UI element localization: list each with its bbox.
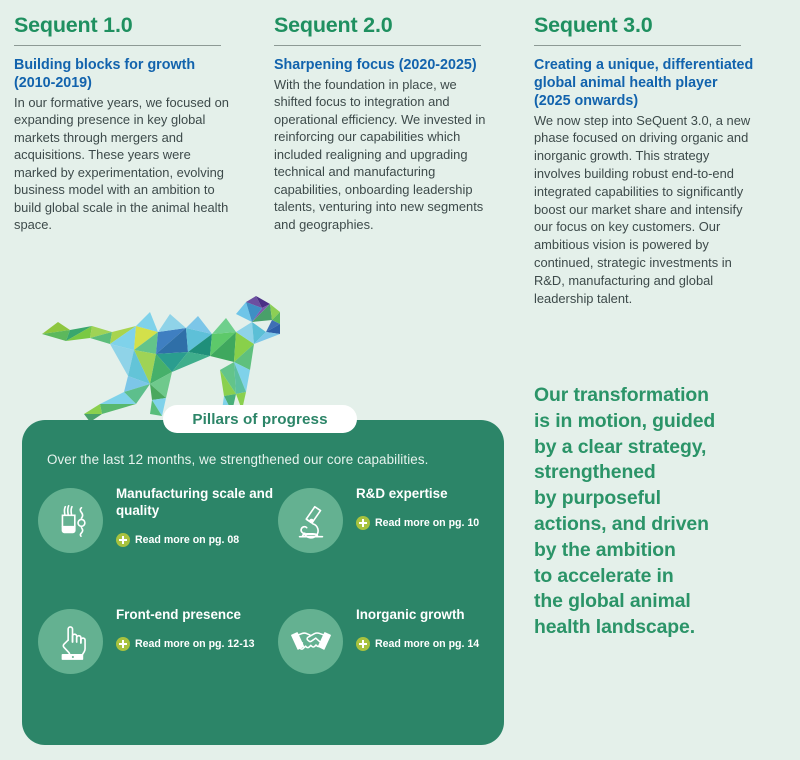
pillar-read-more-label: Read more on pg. 12-13 [135,638,255,650]
plus-icon [356,637,370,651]
pillar-text: Inorganic growth Read more on pg. 14 [356,606,516,651]
column-sequent-1: Sequent 1.0 Building blocks for growth (… [14,14,236,234]
statement-line: Our transformation [534,383,784,409]
pillar-text: Manufacturing scale and quality Read mor… [116,485,276,547]
infographic-page: Sequent 1.0 Building blocks for growth (… [0,0,800,760]
statement-line: by a clear strategy, [534,435,784,461]
plus-icon [356,516,370,530]
statement-line: is in motion, guided [534,409,784,435]
column-divider [534,45,741,46]
statement-line: by the ambition [534,538,784,564]
pillars-card-subtitle: Over the last 12 months, we strengthened… [47,452,428,467]
pillar-read-more-link[interactable]: Read more on pg. 10 [356,516,516,530]
column-body: We now step into SeQuent 3.0, a new phas… [534,112,756,308]
statement-line: to accelerate in [534,564,784,590]
pillar-read-more-label: Read more on pg. 14 [375,638,479,650]
pillar-text: Front-end presence Read more on pg. 12-1… [116,606,276,651]
statement-line: health landscape. [534,615,784,641]
statement-line: by purposeful [534,486,784,512]
pillar-title: R&D expertise [356,485,516,502]
column-body: With the foundation in place, we shifted… [274,76,496,233]
pillar-read-more-label: Read more on pg. 08 [135,534,239,546]
statement-line: the global animal [534,589,784,615]
pillar-item[interactable]: Manufacturing scale and quality Read mor… [38,485,273,585]
pillars-card-title: Pillars of progress [192,411,327,428]
transformation-statement: Our transformation is in motion, guided … [534,383,784,641]
handshake-icon [278,609,343,674]
pillar-read-more-link[interactable]: Read more on pg. 08 [116,533,276,547]
pillar-title: Front-end presence [116,606,276,623]
beaker-flask-icon [38,488,103,553]
pillars-card-title-pill: Pillars of progress [163,405,357,433]
plus-icon [116,533,130,547]
column-title: Sequent 1.0 [14,14,236,38]
pillar-title: Inorganic growth [356,606,516,623]
statement-line: strengthened [534,460,784,486]
pointing-hand-icon [38,609,103,674]
plus-icon [116,637,130,651]
column-sequent-2: Sequent 2.0 Sharpening focus (2020-2025)… [274,14,496,233]
pillar-item[interactable]: Inorganic growth Read more on pg. 14 [278,606,513,706]
microscope-icon [278,488,343,553]
column-subtitle: Creating a unique, differentiated global… [534,56,756,110]
pillar-read-more-link[interactable]: Read more on pg. 14 [356,637,516,651]
pillar-text: R&D expertise Read more on pg. 10 [356,485,516,530]
pillar-title: Manufacturing scale and quality [116,485,276,519]
column-divider [274,45,481,46]
column-sequent-3: Sequent 3.0 Creating a unique, different… [534,14,756,307]
pillar-read-more-link[interactable]: Read more on pg. 12-13 [116,637,276,651]
pillar-item[interactable]: Front-end presence Read more on pg. 12-1… [38,606,273,706]
column-divider [14,45,221,46]
column-body: In our formative years, we focused on ex… [14,94,236,234]
column-title: Sequent 2.0 [274,14,496,38]
pillar-read-more-label: Read more on pg. 10 [375,517,479,529]
column-title: Sequent 3.0 [534,14,756,38]
low-poly-dog-illustration [40,292,280,422]
pillar-item[interactable]: R&D expertise Read more on pg. 10 [278,485,513,585]
statement-line: actions, and driven [534,512,784,538]
column-subtitle: Building blocks for growth (2010-2019) [14,56,236,92]
column-subtitle: Sharpening focus (2020-2025) [274,56,496,74]
